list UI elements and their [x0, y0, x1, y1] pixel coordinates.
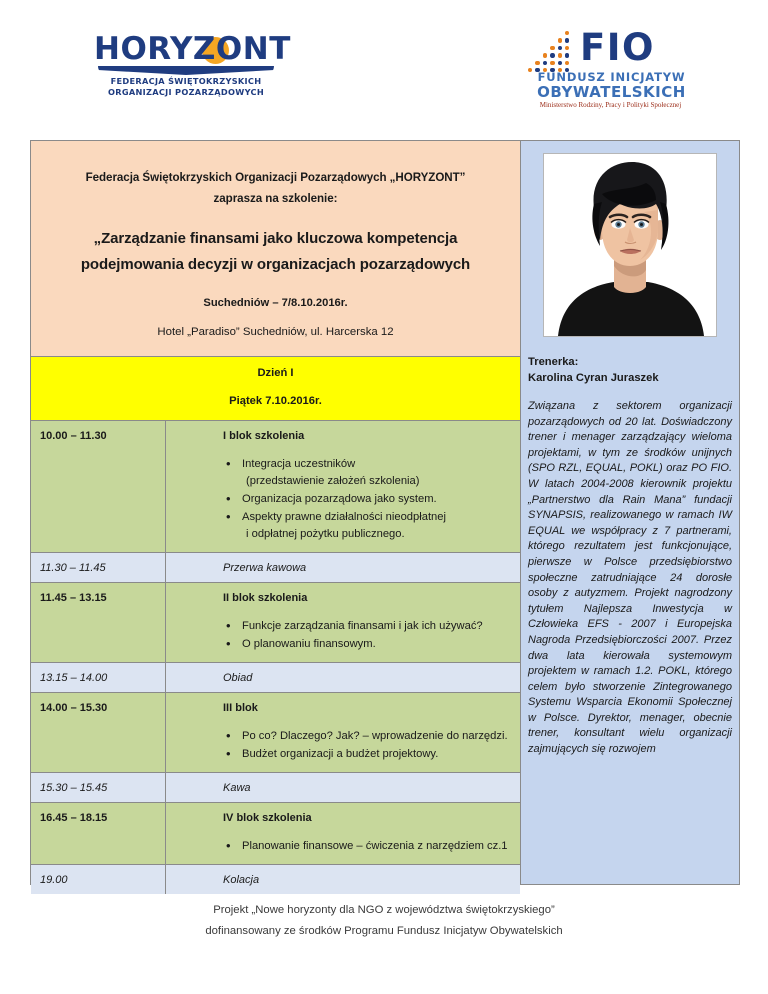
- schedule-bullet: Integracja uczestników(przedstawienie za…: [242, 456, 510, 490]
- schedule-bullet: Aspekty prawne działalności nieodpłatnej…: [242, 509, 510, 543]
- project-footer: Projekt „Nowe horyzonty dla NGO z wojewó…: [0, 900, 768, 942]
- schedule-bullet-line: Integracja uczestników: [242, 458, 355, 470]
- trainer-portrait-image: [544, 154, 716, 336]
- schedule-row: 11.30 – 11.45Przerwa kawowa: [31, 553, 520, 583]
- schedule-bullet-list: Planowanie finansowe – ćwiczenia z narzę…: [176, 838, 510, 855]
- horyzont-tagline-line2: ORGANIZACJI POZARZĄDOWYCH: [94, 87, 278, 98]
- schedule-time: 14.00 – 15.30: [31, 693, 166, 772]
- fio-dot: [550, 46, 554, 50]
- fio-dot: [535, 61, 539, 65]
- schedule-details: I blok szkoleniaIntegracja uczestników(p…: [166, 421, 520, 552]
- trainer-panel: Trenerka: Karolina Cyran Juraszek Związa…: [520, 140, 740, 885]
- schedule-row: 14.00 – 15.30III blokPo co? Dlaczego? Ja…: [31, 693, 520, 773]
- schedule-item-label: Kolacja: [223, 874, 510, 886]
- fio-dot: [565, 53, 569, 57]
- trainer-heading: Trenerka: Karolina Cyran Juraszek: [528, 354, 732, 386]
- trainer-photo: [543, 153, 717, 337]
- schedule-bullet-line: Funkcje zarządzania finansami i jak ich …: [242, 620, 483, 632]
- schedule-time: 11.45 – 13.15: [31, 583, 166, 662]
- schedule-bullet-list: Po co? Dlaczego? Jak? – wprowadzenie do …: [176, 728, 510, 763]
- schedule-bullet: Planowanie finansowe – ćwiczenia z narzę…: [242, 838, 510, 855]
- day-header: Dzień I Piątek 7.10.2016r.: [31, 357, 520, 421]
- schedule-row: 19.00Kolacja: [31, 865, 520, 894]
- horyzont-tagline: FEDERACJA ŚWIĘTOKRZYSKICH ORGANIZACJI PO…: [94, 76, 278, 98]
- schedule-time: 19.00: [31, 865, 166, 894]
- invitation-header: Federacja Świętokrzyskich Organizacji Po…: [31, 141, 520, 357]
- schedule-bullet: Funkcje zarządzania finansami i jak ich …: [242, 618, 510, 635]
- trainer-name: Karolina Cyran Juraszek: [528, 370, 732, 386]
- schedule-item-label: Kawa: [223, 782, 510, 794]
- schedule-bullet-line: Po co? Dlaczego? Jak? – wprowadzenie do …: [242, 730, 508, 742]
- program-column: Federacja Świętokrzyskich Organizacji Po…: [30, 140, 520, 885]
- fio-dot: [550, 61, 554, 65]
- training-dates: Suchedniów – 7/8.10.2016r.: [45, 297, 506, 309]
- fio-dots-icon: [528, 32, 576, 72]
- fio-tagline-line1: FUNDUSZ INICJATYW: [530, 70, 693, 84]
- schedule-bullet-line: Aspekty prawne działalności nieodpłatnej: [242, 511, 446, 523]
- horyzont-wordmark: HORYZONT: [94, 32, 278, 66]
- schedule-row: 11.45 – 13.15II blok szkoleniaFunkcje za…: [31, 583, 520, 663]
- schedule-bullet-line: O planowaniu finansowym.: [242, 638, 376, 650]
- schedule-details: Obiad: [166, 663, 520, 692]
- fio-wordmark: FIO: [580, 28, 655, 68]
- schedule-bullet-line: i odpłatnej pożytku publicznego.: [242, 526, 510, 543]
- schedule-bullet: Budżet organizacji a budżet projektowy.: [242, 746, 510, 763]
- schedule-details: II blok szkoleniaFunkcje zarządzania fin…: [166, 583, 520, 662]
- fio-dot: [565, 46, 569, 50]
- schedule-details: Przerwa kawowa: [166, 553, 520, 582]
- fio-dot: [543, 53, 547, 57]
- invitation-line-1: Federacja Świętokrzyskich Organizacji Po…: [45, 167, 506, 188]
- trainer-role-label: Trenerka:: [528, 354, 732, 370]
- schedule-bullet-list: Funkcje zarządzania finansami i jak ich …: [176, 618, 510, 653]
- schedule-table: 10.00 – 11.30I blok szkoleniaIntegracja …: [31, 421, 520, 894]
- schedule-bullet-list: Integracja uczestników(przedstawienie za…: [176, 456, 510, 543]
- fio-dot: [558, 61, 562, 65]
- schedule-bullet: O planowaniu finansowym.: [242, 636, 510, 653]
- horyzont-logo: HORYZONT FEDERACJA ŚWIĘTOKRZYSKICH ORGAN…: [94, 32, 278, 102]
- schedule-details: IV blok szkoleniaPlanowanie finansowe – …: [166, 803, 520, 864]
- footer-line-1: Projekt „Nowe horyzonty dla NGO z wojewó…: [0, 900, 768, 921]
- fio-dot: [565, 31, 569, 35]
- schedule-time: 15.30 – 15.45: [31, 773, 166, 802]
- schedule-row: 16.45 – 18.15IV blok szkoleniaPlanowanie…: [31, 803, 520, 865]
- footer-line-2: dofinansowany ze środków Programu Fundus…: [0, 921, 768, 942]
- fio-dot: [558, 46, 562, 50]
- training-title-line-2: podejmowania decyzji w organizacjach poz…: [45, 252, 506, 278]
- schedule-details: III blokPo co? Dlaczego? Jak? – wprowadz…: [166, 693, 520, 772]
- schedule-bullet-line: Planowanie finansowe – ćwiczenia z narzę…: [242, 840, 508, 852]
- fio-dot: [543, 61, 547, 65]
- fio-tagline-line2: OBYWATELSKICH: [530, 84, 693, 101]
- schedule-row: 10.00 – 11.30I blok szkoleniaIntegracja …: [31, 421, 520, 553]
- schedule-block-title: III blok: [223, 702, 510, 714]
- schedule-time: 11.30 – 11.45: [31, 553, 166, 582]
- horyzont-swoosh-icon: [98, 66, 274, 75]
- schedule-time: 10.00 – 11.30: [31, 421, 166, 552]
- fio-dot: [558, 53, 562, 57]
- schedule-block-title: I blok szkolenia: [223, 430, 510, 442]
- fio-dot: [558, 38, 562, 42]
- schedule-row: 13.15 – 14.00Obiad: [31, 663, 520, 693]
- training-venue: Hotel „Paradiso” Suchedniów, ul. Harcers…: [45, 326, 506, 338]
- fio-ministry-line: Ministerstwo Rodziny, Pracy i Polityki S…: [528, 101, 693, 110]
- schedule-item-label: Przerwa kawowa: [223, 562, 510, 574]
- trainer-bio: Związana z sektorem organizacji pozarząd…: [528, 399, 732, 758]
- schedule-time: 16.45 – 18.15: [31, 803, 166, 864]
- trainer-bio-text: Związana z sektorem organizacji pozarząd…: [528, 399, 732, 758]
- schedule-block-title: IV blok szkolenia: [223, 812, 510, 824]
- schedule-details: Kawa: [166, 773, 520, 802]
- schedule-block-title: II blok szkolenia: [223, 592, 510, 604]
- fio-dot: [550, 53, 554, 57]
- schedule-row: 15.30 – 15.45Kawa: [31, 773, 520, 803]
- schedule-bullet: Organizacja pozarządowa jako system.: [242, 491, 510, 508]
- schedule-bullet-line: (przedstawienie założeń szkolenia): [242, 473, 510, 490]
- invitation-document: Federacja Świętokrzyskich Organizacji Po…: [30, 140, 740, 885]
- invitation-line-2: zaprasza na szkolenie:: [45, 188, 506, 209]
- horyzont-tagline-line1: FEDERACJA ŚWIĘTOKRZYSKICH: [94, 76, 278, 87]
- fio-dot: [565, 61, 569, 65]
- logo-bar: HORYZONT FEDERACJA ŚWIĘTOKRZYSKICH ORGAN…: [0, 0, 768, 130]
- schedule-details: Kolacja: [166, 865, 520, 894]
- fio-logo: FIO FUNDUSZ INICJATYW OBYWATELSKICH Mini…: [528, 28, 693, 106]
- schedule-time: 13.15 – 14.00: [31, 663, 166, 692]
- schedule-item-label: Obiad: [223, 672, 510, 684]
- schedule-bullet-line: Organizacja pozarządowa jako system.: [242, 493, 437, 505]
- training-title-line-1: „Zarządzanie finansami jako kluczowa kom…: [45, 226, 506, 252]
- day-label: Dzień I: [31, 364, 520, 382]
- schedule-bullet-line: Budżet organizacji a budżet projektowy.: [242, 748, 438, 760]
- day-date: Piątek 7.10.2016r.: [31, 392, 520, 410]
- schedule-bullet: Po co? Dlaczego? Jak? – wprowadzenie do …: [242, 728, 510, 745]
- fio-dot: [565, 38, 569, 42]
